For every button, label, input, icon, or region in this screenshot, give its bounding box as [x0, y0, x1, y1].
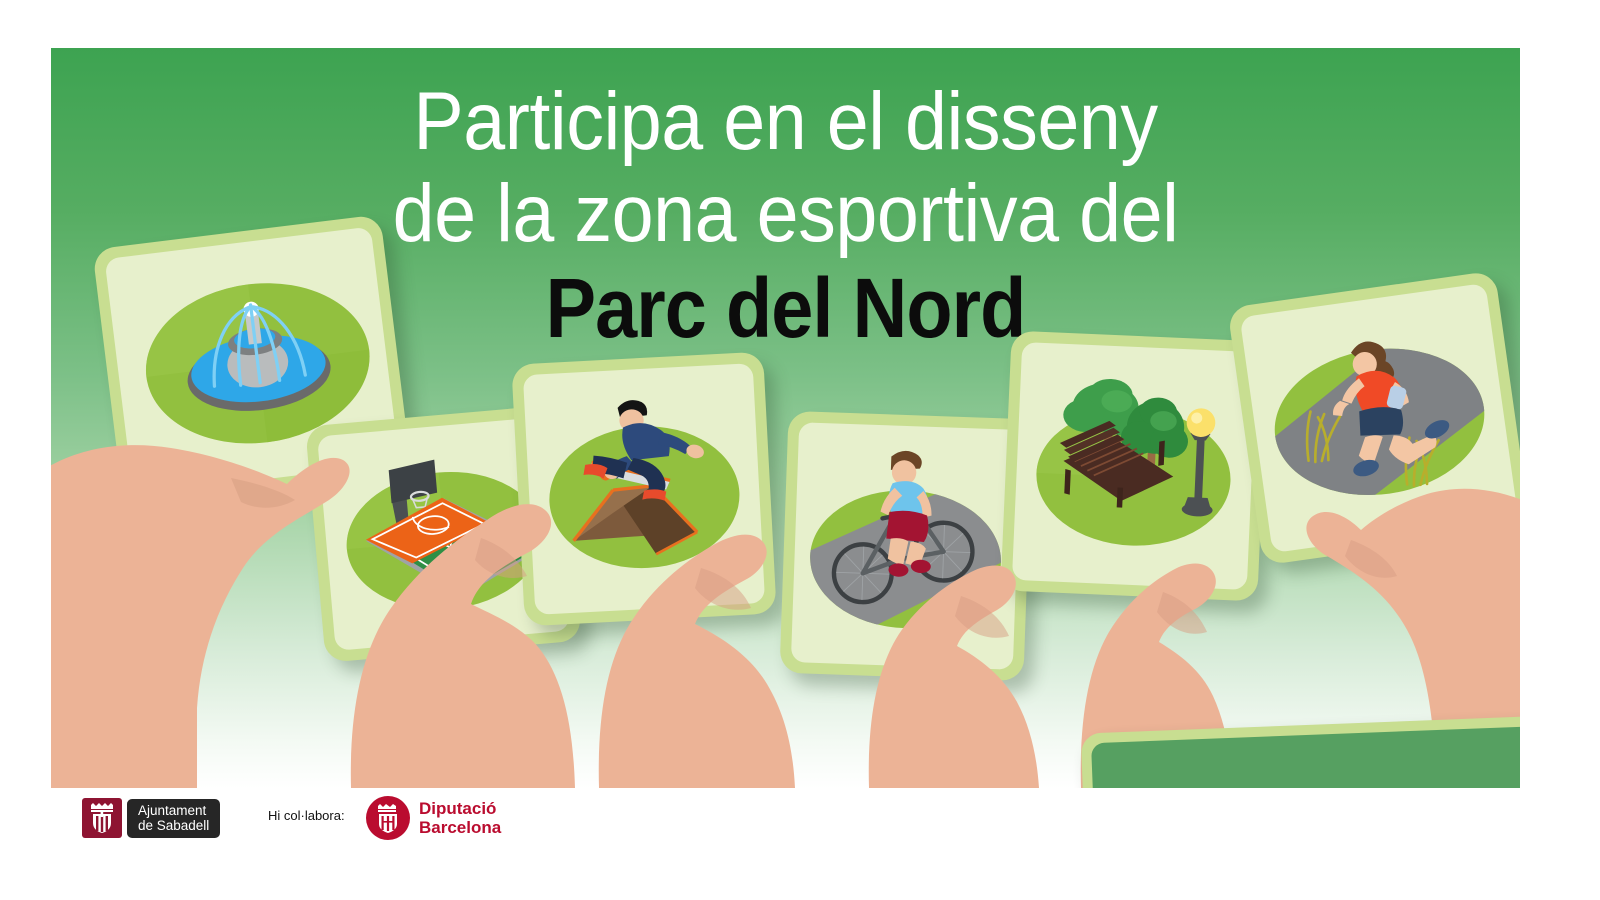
- card-cyclist-inner: [791, 422, 1021, 670]
- card-runner[interactable]: [1227, 270, 1520, 565]
- runner-illustration: [1240, 283, 1519, 552]
- diputacio-crest-icon: [366, 796, 410, 840]
- ajuntament-name: Ajuntament de Sabadell: [127, 799, 220, 838]
- card-bench-park-inner: [1012, 342, 1257, 590]
- diputacio-name: Diputació Barcelona: [419, 799, 501, 837]
- sabadell-crest-icon: [82, 798, 122, 838]
- card-bench-park[interactable]: [1000, 331, 1268, 602]
- diputacio-shield-icon: [373, 802, 403, 834]
- ajuntament-line-2: de Sabadell: [138, 818, 209, 833]
- cyclist-illustration: [791, 422, 1021, 670]
- cta-text: Fes la teva aportació!: [1194, 775, 1477, 788]
- cta-line-1: Fes la teva: [1194, 777, 1474, 788]
- sabadell-shield-icon: [87, 801, 117, 835]
- ajuntament-sabadell-logo[interactable]: Ajuntament de Sabadell: [82, 798, 220, 838]
- diputacio-line-2: Barcelona: [419, 818, 501, 837]
- footer-logos: Ajuntament de Sabadell Hi col·labora:: [0, 788, 1600, 900]
- cta-callout-inner: Fes la teva aportació!: [1091, 725, 1520, 788]
- card-cyclist[interactable]: [780, 411, 1033, 681]
- card-skate-ramp-inner: [523, 363, 765, 615]
- cta-callout[interactable]: Fes la teva aportació!: [1081, 714, 1520, 788]
- collaborator-label: Hi col·labora:: [268, 808, 345, 823]
- ajuntament-line-1: Ajuntament: [138, 803, 209, 818]
- bench-park-illustration: [1012, 342, 1257, 590]
- diputacio-barcelona-logo[interactable]: Diputació Barcelona: [366, 796, 501, 840]
- skate-ramp-illustration: [523, 363, 765, 615]
- diputacio-line-1: Diputació: [419, 799, 501, 818]
- headline-line-1: Participa en el disseny: [110, 76, 1461, 168]
- card-skate-ramp[interactable]: [511, 352, 776, 627]
- promo-banner: Participa en el disseny de la zona espor…: [51, 48, 1520, 788]
- banner-stage: Participa en el disseny de la zona espor…: [0, 0, 1600, 900]
- card-runner-inner: [1240, 283, 1519, 553]
